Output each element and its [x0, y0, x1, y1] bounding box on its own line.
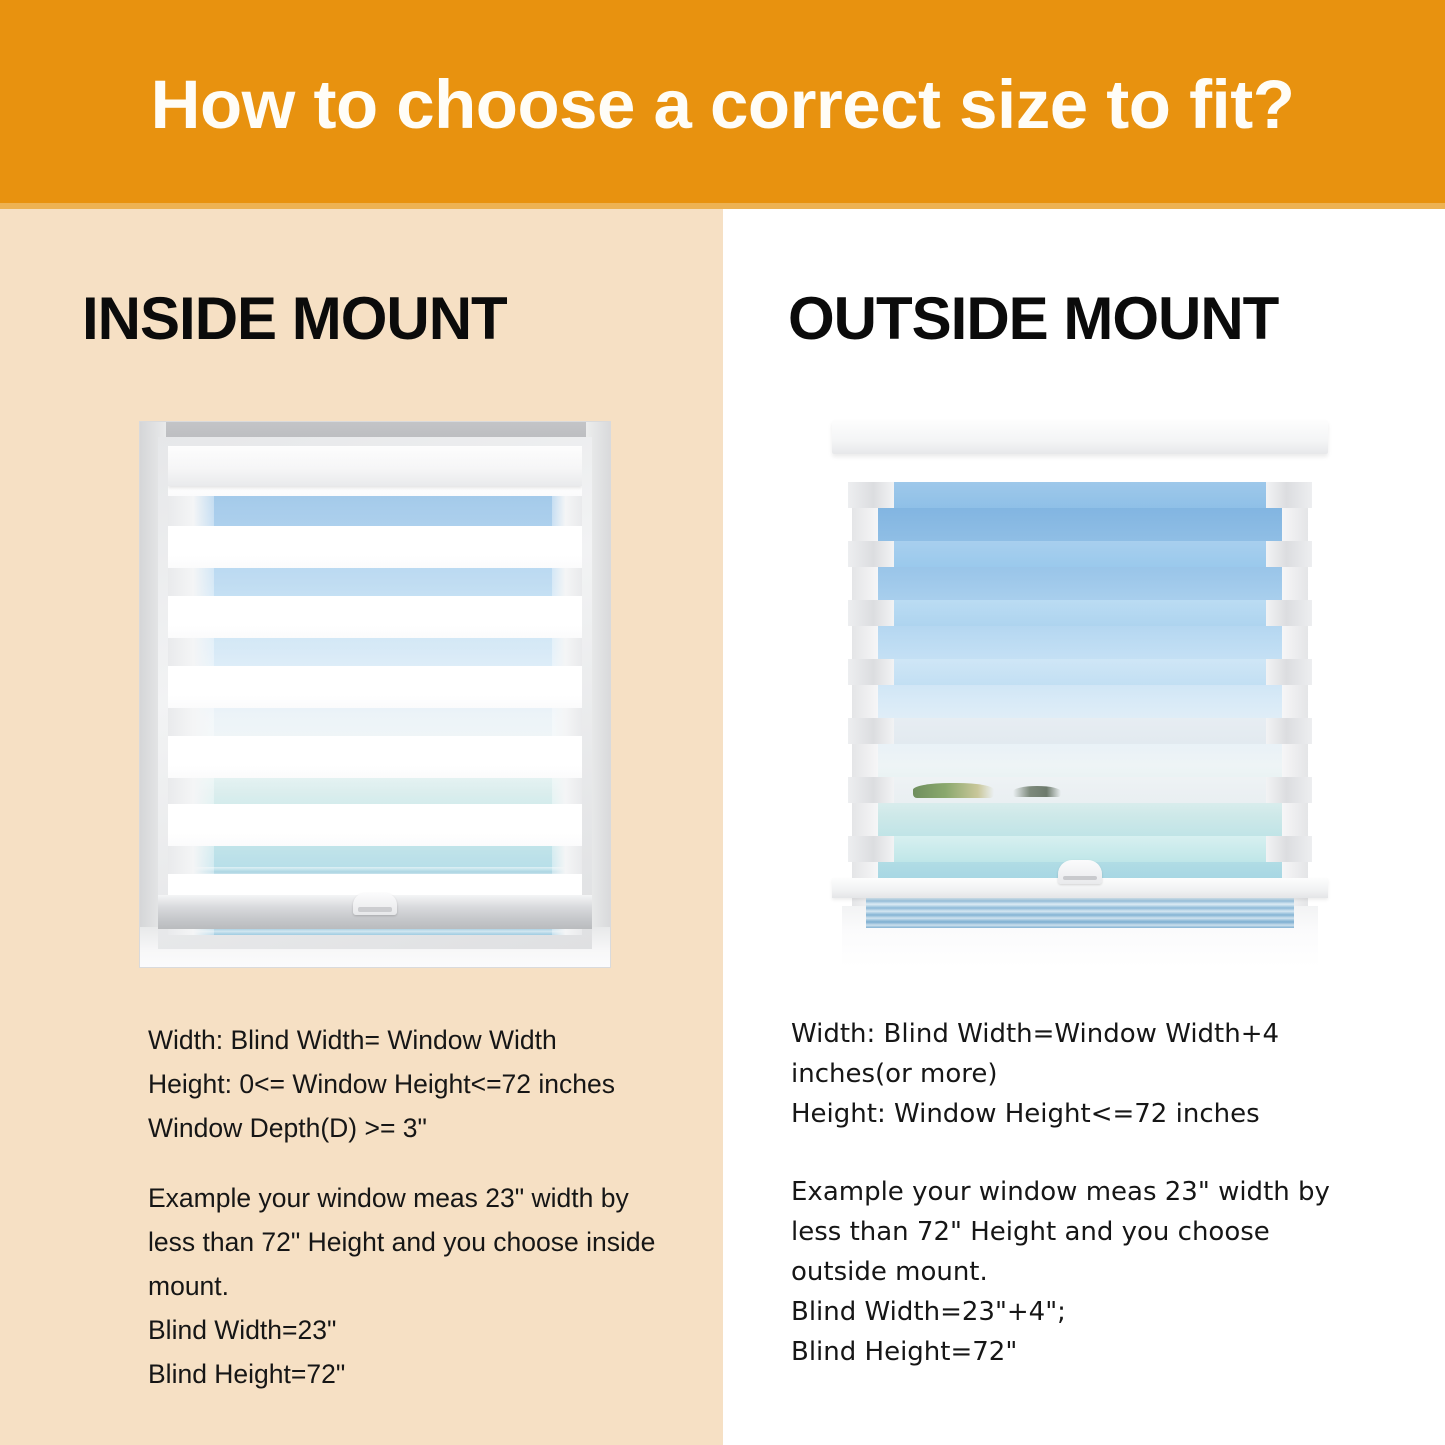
spec-line: Width: Blind Width=Window Width+4: [791, 1014, 1351, 1054]
blind-opaque-band: [168, 526, 582, 568]
slat-tab-right: [1266, 541, 1312, 567]
blind-band-tab-left: [168, 638, 214, 666]
window-frame: [158, 437, 592, 949]
slat-tab-right: [1266, 600, 1312, 626]
slat-tab-right: [1266, 659, 1312, 685]
slat-tab-left: [848, 600, 894, 626]
example-line: outside mount.: [791, 1252, 1351, 1292]
blind-opaque-band: [168, 666, 582, 708]
window-recess: [140, 422, 610, 967]
slat-see-through: [894, 659, 1266, 685]
blind-slat: [848, 836, 1312, 862]
blind-slat: [848, 659, 1312, 685]
blind-sheer-band: [168, 496, 582, 526]
blind-sheer-band: [168, 568, 582, 596]
blind-band-tab-right: [552, 708, 582, 736]
slat-tab-left: [848, 777, 894, 803]
blind-headrail: [168, 446, 582, 486]
slat-tab-right: [1266, 777, 1312, 803]
example-line: Blind Height=72": [148, 1352, 708, 1396]
slat-tab-left: [848, 836, 894, 862]
slat-tab-left: [848, 482, 894, 508]
blind-opaque-band: [168, 804, 582, 846]
example-line: less than 72" Height and you choose insi…: [148, 1220, 708, 1264]
slat-tab-right: [1266, 718, 1312, 744]
example-line: Blind Height=72": [791, 1332, 1351, 1372]
slat-tab-right: [1266, 836, 1312, 862]
slat-see-through: [894, 777, 1266, 803]
blind-band-tab-right: [552, 638, 582, 666]
blind-sheer-band: [168, 846, 582, 874]
example-line: Blind Width=23"+4";: [791, 1292, 1351, 1332]
slat-see-through: [894, 600, 1266, 626]
blind-band-tab-left: [168, 568, 214, 596]
spec-line: inches(or more): [791, 1054, 1351, 1094]
blind-headrail: [832, 420, 1328, 454]
blind-band-tab-left: [168, 496, 214, 526]
window-latch-handle[interactable]: [353, 893, 397, 915]
window-latch-handle[interactable]: [1058, 860, 1102, 884]
island-shape-icon: [913, 783, 995, 798]
blind-slat: [848, 541, 1312, 567]
outside-mount-heading: OUTSIDE MOUNT: [788, 284, 1278, 353]
slat-see-through: [894, 836, 1266, 862]
slat-tab-right: [1266, 482, 1312, 508]
spec-line: Height: Window Height<=72 inches: [791, 1094, 1351, 1134]
inside-mount-example: Example your window meas 23" width by le…: [148, 1176, 708, 1396]
inside-mount-illustration: [140, 422, 610, 967]
zebra-blind-bands: [168, 446, 582, 935]
slat-tab-left: [848, 718, 894, 744]
example-line: mount.: [148, 1264, 708, 1308]
slat-tab-left: [848, 659, 894, 685]
infographic-page: How to choose a correct size to fit? INS…: [0, 0, 1445, 1445]
example-line: Example your window meas 23" width by: [148, 1176, 708, 1220]
header-banner: How to choose a correct size to fit?: [0, 0, 1445, 203]
rock-island-shape-icon: [1013, 786, 1061, 797]
blind-opaque-band: [168, 736, 582, 778]
example-line: less than 72" Height and you choose: [791, 1212, 1351, 1252]
slat-see-through: [894, 482, 1266, 508]
blind-band-tab-left: [168, 708, 214, 736]
inside-mount-specs: Width: Blind Width= Window Width Height:…: [148, 1018, 708, 1150]
blind-band-tab-right: [552, 568, 582, 596]
slat-see-through: [894, 718, 1266, 744]
spec-line: Height: 0<= Window Height<=72 inches: [148, 1062, 708, 1106]
blind-sheer-band: [168, 778, 582, 804]
blind-band-tab-left: [168, 778, 214, 804]
blind-band-tab-left: [168, 846, 214, 874]
blind-slat: [848, 777, 1312, 803]
blind-slat: [848, 600, 1312, 626]
blind-sheer-band: [168, 638, 582, 666]
blind-opaque-band: [168, 596, 582, 638]
example-line: Blind Width=23": [148, 1308, 708, 1352]
window-glass-area: [168, 446, 582, 935]
outside-mount-example: Example your window meas 23" width by le…: [791, 1172, 1351, 1372]
inside-mount-heading: INSIDE MOUNT: [82, 284, 507, 353]
blind-band-tab-right: [552, 496, 582, 526]
outside-mount-illustration: [826, 420, 1334, 970]
spec-line: Window Depth(D) >= 3": [148, 1106, 708, 1150]
example-line: Example your window meas 23" width by: [791, 1172, 1351, 1212]
blind-slat: [848, 482, 1312, 508]
outside-mount-specs: Width: Blind Width=Window Width+4 inches…: [791, 1014, 1351, 1134]
blind-band-tab-right: [552, 846, 582, 874]
slat-tab-left: [848, 541, 894, 567]
spec-line: Width: Blind Width= Window Width: [148, 1018, 708, 1062]
blind-sheer-band: [168, 708, 582, 736]
blind-slat: [848, 718, 1312, 744]
page-title: How to choose a correct size to fit?: [151, 70, 1295, 139]
slat-see-through: [894, 541, 1266, 567]
blind-band-tab-right: [552, 778, 582, 804]
